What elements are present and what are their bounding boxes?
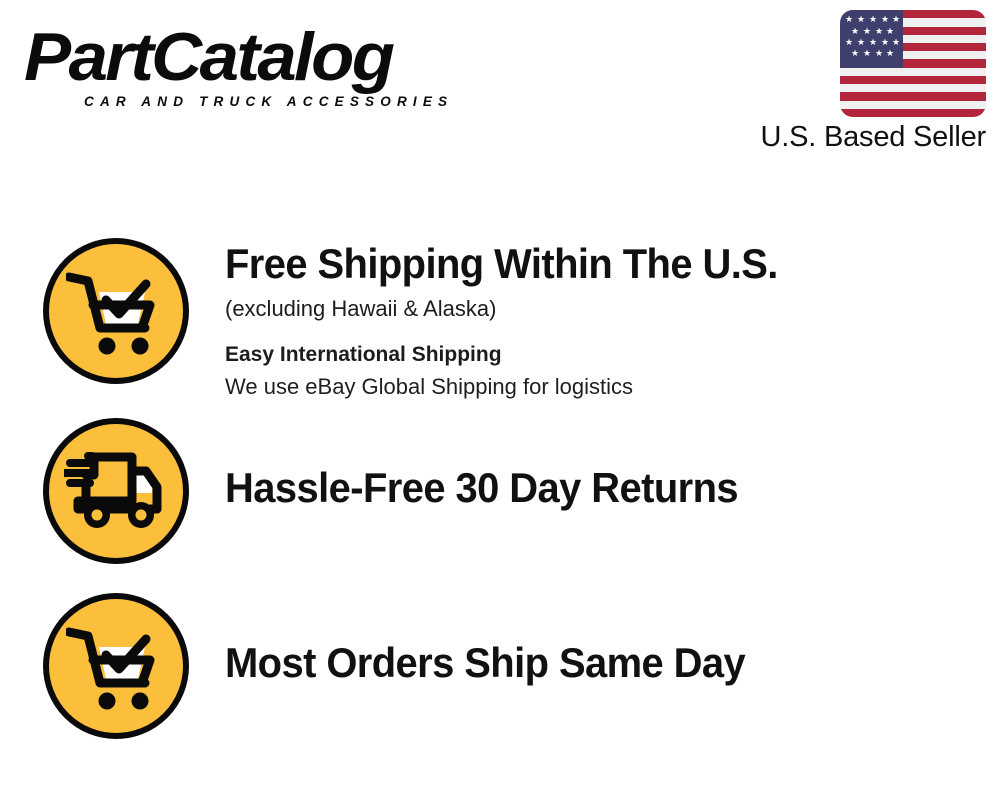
- feature-row: Free Shipping Within The U.S. (excluding…: [0, 238, 1000, 408]
- feature-text-block: Hassle-Free 30 Day Returns: [189, 418, 1000, 512]
- feature-subline: We use eBay Global Shipping for logistic…: [225, 372, 1000, 402]
- feature-subline: Easy International Shipping: [225, 340, 1000, 370]
- brand-wordmark: PartCatalog: [24, 22, 513, 92]
- flag-stripe: [840, 84, 986, 92]
- us-based-seller-label: U.S. Based Seller: [761, 120, 987, 154]
- us-flag-icon: ★ ★ ★ ★ ★ ★ ★ ★ ★ ★ ★ ★ ★ ★ ★ ★ ★ ★ ★ ★: [840, 10, 986, 117]
- feature-row: Most Orders Ship Same Day: [0, 593, 1000, 748]
- feature-subline: (excluding Hawaii & Alaska): [225, 294, 1000, 324]
- page-header: PartCatalog CAR AND TRUCK ACCESSORIES ★ …: [0, 0, 1000, 185]
- shopping-cart-check-icon: [43, 238, 189, 384]
- flag-stripe: [840, 92, 986, 100]
- shopping-cart-check-icon: [43, 593, 189, 739]
- flag-stripe: [840, 101, 986, 109]
- feature-headline: Most Orders Ship Same Day: [225, 639, 961, 687]
- flag-star: ★: [863, 50, 871, 59]
- delivery-truck-icon: [43, 418, 189, 564]
- flag-star: ★: [863, 28, 871, 37]
- flag-star: ★: [881, 16, 889, 25]
- us-flag-badge: ★ ★ ★ ★ ★ ★ ★ ★ ★ ★ ★ ★ ★ ★ ★ ★ ★ ★ ★ ★: [840, 10, 986, 117]
- brand-tagline: CAR AND TRUCK ACCESSORIES: [84, 94, 453, 109]
- flag-stripe: [840, 109, 986, 117]
- flag-canton: ★ ★ ★ ★ ★ ★ ★ ★ ★ ★ ★ ★ ★ ★ ★ ★ ★ ★ ★ ★: [840, 10, 903, 68]
- flag-star: ★: [881, 39, 889, 48]
- feature-headline: Hassle-Free 30 Day Returns: [225, 464, 961, 512]
- flag-star: ★: [851, 28, 859, 37]
- flag-star: ★: [869, 16, 877, 25]
- flag-star: ★: [886, 50, 894, 59]
- flag-stripe: [840, 68, 986, 76]
- flag-star: ★: [886, 28, 894, 37]
- flag-star: ★: [845, 16, 853, 25]
- flag-star: ★: [875, 50, 883, 59]
- feature-row: Hassle-Free 30 Day Returns: [0, 418, 1000, 573]
- delivery-truck-glyph: [64, 449, 168, 533]
- flag-star: ★: [845, 39, 853, 48]
- partcatalog-logo[interactable]: PartCatalog CAR AND TRUCK ACCESSORIES: [24, 22, 494, 114]
- flag-star: ★: [875, 28, 883, 37]
- shopping-cart-check-glyph: [66, 264, 166, 358]
- feature-text-block: Free Shipping Within The U.S. (excluding…: [189, 238, 1000, 402]
- flag-star: ★: [851, 50, 859, 59]
- flag-star: ★: [857, 16, 865, 25]
- flag-stripe: [840, 76, 986, 84]
- flag-star: ★: [892, 16, 900, 25]
- flag-star: ★: [892, 39, 900, 48]
- feature-text-block: Most Orders Ship Same Day: [189, 593, 1000, 687]
- shopping-cart-check-glyph: [66, 619, 166, 713]
- feature-headline: Free Shipping Within The U.S.: [225, 240, 961, 288]
- flag-star: ★: [869, 39, 877, 48]
- flag-star: ★: [857, 39, 865, 48]
